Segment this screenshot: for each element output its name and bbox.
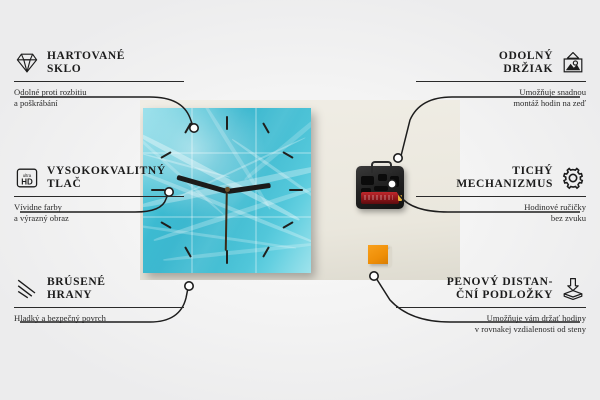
- feature-desc: Odolné proti rozbitiu: [14, 87, 184, 98]
- ultra-hd-badge-icon: ultra HD: [14, 166, 40, 190]
- clock-center-cap: [225, 187, 230, 192]
- divider: [14, 307, 184, 308]
- mechanism-hanger-loop: [371, 161, 392, 173]
- feature-title: TLAČ: [47, 178, 166, 191]
- divider: [416, 81, 586, 82]
- feature-desc: montáž hodin na zeď: [416, 98, 586, 109]
- clock-tick: [226, 116, 228, 130]
- feature-desc: Vívidne farby: [14, 202, 184, 213]
- feature-high-quality-print: ultra HD VYSOKOKVALITNÝ TLAČ Vívidne far…: [14, 165, 184, 224]
- ground-edges-icon: [14, 277, 40, 301]
- feature-foam-spacers: PENOVÝ DISTAN- ČNÍ PODLOŽKY Umožňuje vám…: [396, 276, 586, 335]
- divider: [416, 196, 586, 197]
- aa-battery: [361, 192, 399, 204]
- infographic-stage: HARTOVANÉ SKLO Odolné proti rozbitiu a p…: [0, 0, 600, 400]
- feature-desc: Hladký a bezpečný povrch: [14, 313, 184, 324]
- feature-title: DRŽIAK: [499, 63, 553, 76]
- feature-silent-mechanism: TICHÝ MECHANIZMUS Hodinové ručičky bez z…: [416, 165, 586, 224]
- gear-icon: [560, 166, 586, 190]
- clock-tick: [226, 250, 228, 264]
- product-photo: [140, 100, 460, 280]
- feature-title: HRANY: [47, 289, 106, 302]
- feature-title: VYSOKOKVALITNÝ: [47, 165, 166, 178]
- foam-spacer-icon: [560, 277, 586, 301]
- feature-title: MECHANIZMUS: [456, 178, 553, 191]
- feature-title: ČNÍ PODLOŽKY: [447, 289, 553, 302]
- feature-desc: a poškrábání: [14, 98, 184, 109]
- feature-desc: a výrazný obraz: [14, 213, 184, 224]
- connector-dot-edges: [185, 282, 193, 290]
- divider: [14, 196, 184, 197]
- feature-desc: bez zvuku: [416, 213, 586, 224]
- feature-title: BRÚSENÉ: [47, 276, 106, 289]
- foam-spacer-pad: [368, 245, 388, 264]
- divider: [396, 307, 586, 308]
- feature-hardened-glass: HARTOVANÉ SKLO Odolné proti rozbitiu a p…: [14, 50, 184, 109]
- feature-desc: Hodinové ručičky: [416, 202, 586, 213]
- feature-ground-edges: BRÚSENÉ HRANY Hladký a bezpečný povrch: [14, 276, 184, 324]
- clock-tick: [289, 189, 303, 191]
- svg-text:HD: HD: [21, 177, 33, 186]
- feature-title: HARTOVANÉ: [47, 50, 125, 63]
- feature-desc: Umožňuje vám držať hodiny: [396, 313, 586, 324]
- feature-desc: v rovnakej vzdialenosti od steny: [396, 324, 586, 335]
- feature-title: SKLO: [47, 63, 125, 76]
- diamond-icon: [14, 51, 40, 75]
- feature-title: PENOVÝ DISTAN-: [447, 276, 553, 289]
- feature-title: TICHÝ: [456, 165, 553, 178]
- picture-frame-hanger-icon: [560, 51, 586, 75]
- feature-desc: Umožňuje snadnou: [416, 87, 586, 98]
- feature-durable-hanger: ODOLNÝ DRŽIAK Umožňuje snadnou montáž ho…: [416, 50, 586, 109]
- clock-mechanism: [356, 166, 404, 209]
- feature-title: ODOLNÝ: [499, 50, 553, 63]
- divider: [14, 81, 184, 82]
